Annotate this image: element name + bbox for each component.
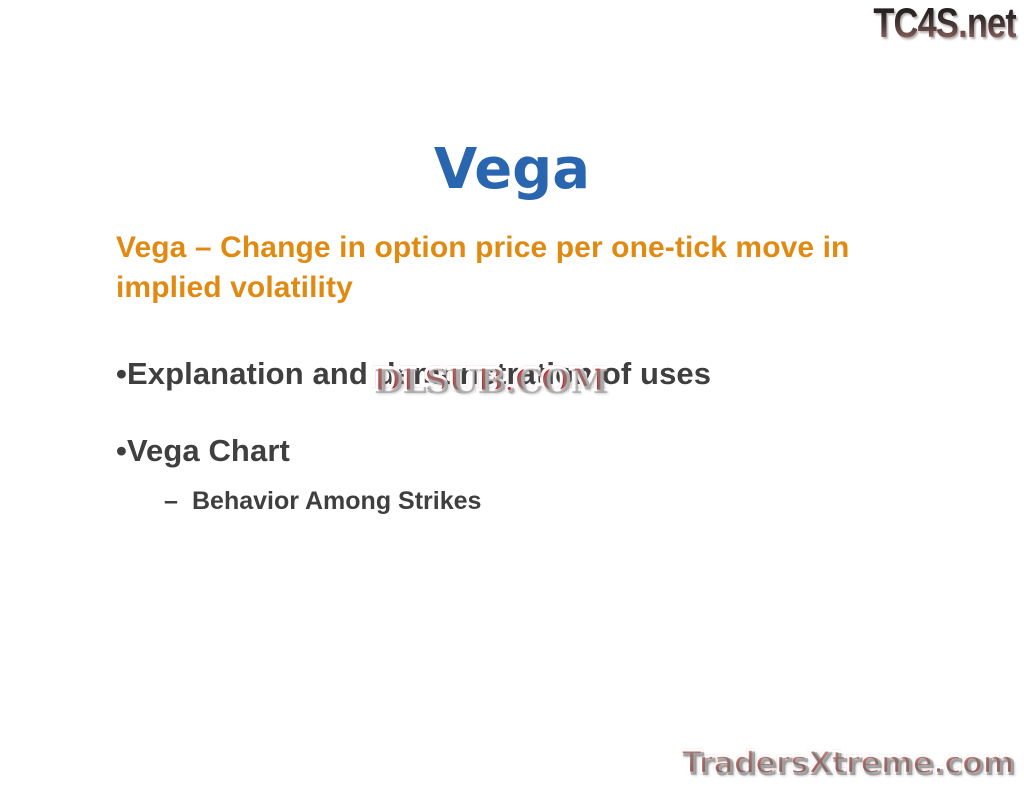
bullet-marker-icon: •	[116, 356, 127, 391]
lead-definition-text: Vega – Change in option price per one-ti…	[116, 228, 876, 308]
list-item: •Vega Chart	[116, 432, 916, 469]
dlsub-watermark: DLSUB.COM	[372, 363, 606, 396]
list-item-label: Vega Chart	[127, 433, 290, 468]
page-title: Vega	[0, 141, 1024, 200]
sub-list-item-label: Behavior Among Strikes	[192, 487, 481, 515]
dlsub-watermark-label: DLSUB.COM	[372, 360, 606, 399]
spacer	[116, 308, 916, 355]
tradersxtreme-logo: TradersXtreme.com	[681, 748, 1014, 779]
bullet-marker-icon: •	[116, 433, 127, 468]
dash-marker-icon: –	[164, 486, 192, 516]
sub-list-item: –Behavior Among Strikes	[164, 486, 916, 516]
tradersxtreme-logo-label: TradersXtreme.com	[681, 745, 1014, 781]
tc4s-logo: TC4S.net	[873, 2, 1016, 44]
presentation-slide: TC4S.net Vega Vega – Change in option pr…	[0, 0, 1024, 791]
